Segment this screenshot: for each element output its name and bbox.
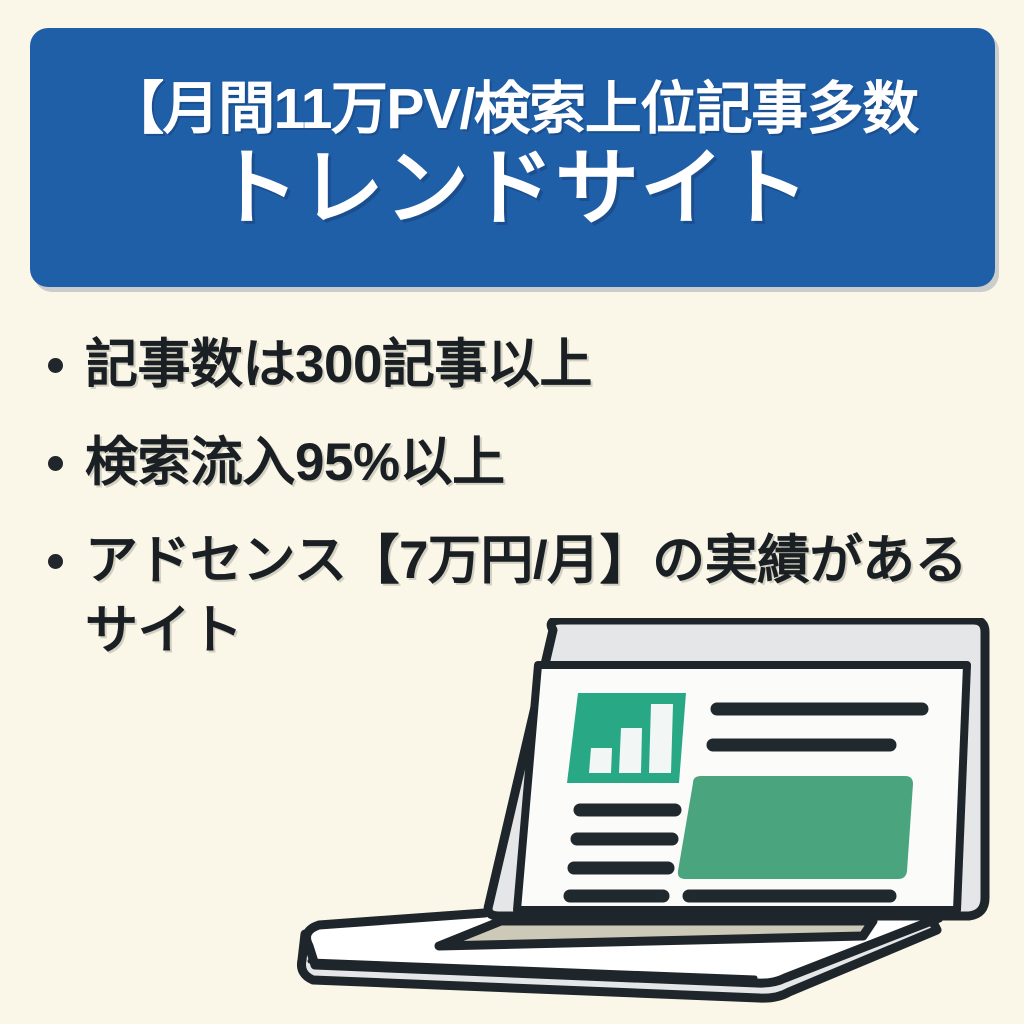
banner-title: トレンドサイト xyxy=(215,146,810,230)
laptop-lid-group xyxy=(488,620,985,916)
screen-highlight-block xyxy=(678,776,913,879)
bar-chart-icon xyxy=(567,693,686,783)
banner-subtitle: 【月間11万PV/検索上位記事多数 xyxy=(107,79,918,141)
list-item-label: 記事数は300記事以上 xyxy=(85,330,592,400)
laptop-illustration xyxy=(285,618,1005,1024)
list-item: 記事数は300記事以上 xyxy=(48,330,998,400)
bullet-dot-icon xyxy=(48,358,63,373)
list-item-label: 検索流入95%以上 xyxy=(85,428,505,498)
header-banner: 【月間11万PV/検索上位記事多数 トレンドサイト xyxy=(30,28,995,287)
list-item: 検索流入95%以上 xyxy=(48,428,998,498)
bullet-dot-icon xyxy=(48,554,63,569)
laptop-base-group xyxy=(301,910,939,998)
poster-root: 【月間11万PV/検索上位記事多数 トレンドサイト 記事数は300記事以上 検索… xyxy=(0,0,1024,1024)
bullet-dot-icon xyxy=(48,456,63,471)
